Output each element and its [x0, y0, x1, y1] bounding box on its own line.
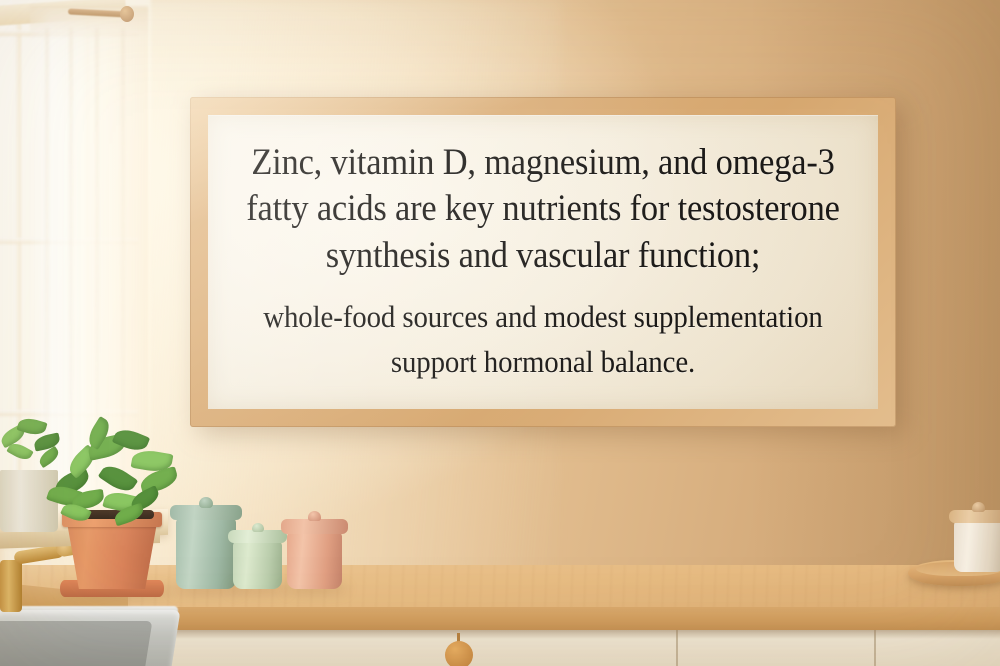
quote-paragraph-1: Zinc, vitamin D, magnesium, and omega-3 …	[245, 140, 840, 279]
canister-peach-lid[interactable]	[281, 519, 348, 534]
canister-mint-knob[interactable]	[252, 523, 264, 532]
cabinet-seam	[676, 630, 678, 666]
cabinet-knob[interactable]	[445, 641, 473, 666]
poster-canvas: Zinc, vitamin D, magnesium, and omega-3 …	[208, 115, 878, 409]
canister-sage[interactable]	[176, 517, 236, 589]
cream-jar[interactable]	[954, 520, 1000, 572]
canister-sage-knob[interactable]	[199, 497, 213, 508]
faucet-base[interactable]	[0, 560, 22, 612]
picture-frame[interactable]: Zinc, vitamin D, magnesium, and omega-3 …	[190, 97, 896, 427]
cabinet-seam	[874, 630, 876, 666]
canister-mint[interactable]	[233, 540, 282, 589]
curtain-rod-finial	[120, 6, 134, 22]
quote-paragraph-2: whole-food sources and modest supplement…	[244, 295, 841, 384]
kitchen-scene: Zinc, vitamin D, magnesium, and omega-3 …	[0, 0, 1000, 666]
quote-block: Zinc, vitamin D, magnesium, and omega-3 …	[208, 115, 878, 409]
cream-jar-knob[interactable]	[972, 502, 985, 512]
leaf	[6, 440, 33, 463]
canister-peach-knob[interactable]	[308, 511, 321, 521]
terracotta-pot	[66, 517, 158, 589]
canister-peach[interactable]	[287, 531, 342, 589]
basil-plant	[44, 425, 184, 525]
sink-basin	[0, 621, 152, 666]
